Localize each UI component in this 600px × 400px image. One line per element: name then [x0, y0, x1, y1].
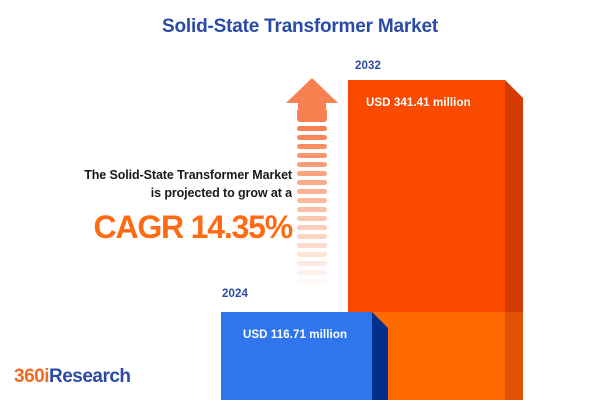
- up-arrow-shaft-segment: [297, 144, 327, 149]
- brand-logo-blue: Research: [49, 366, 131, 387]
- up-arrow-neck: [297, 110, 327, 122]
- page-title: Solid-State Transformer Market: [0, 16, 600, 38]
- up-arrow-shaft-segment: [297, 171, 327, 176]
- bar-label-value-2032: USD 341.41 million: [366, 97, 471, 109]
- statement-line-1: The Solid-State Transformer Market: [14, 166, 292, 184]
- bar-label-year-2024: 2024: [222, 288, 248, 300]
- up-arrow-shaft-segment: [297, 225, 327, 230]
- bar-2032-side-overlap-region: [505, 312, 523, 400]
- up-arrow-shaft-segment: [297, 261, 327, 266]
- cagr-value: CAGR 14.35%: [14, 209, 292, 245]
- up-arrow-shaft-segment: [297, 198, 327, 203]
- up-arrow-shaft-segment: [297, 279, 327, 284]
- up-arrow-shaft: [297, 126, 327, 294]
- statement-line-2: is projected to grow at a: [14, 184, 292, 202]
- up-arrow-shaft-segment: [297, 153, 327, 158]
- up-arrow-shaft-segment: [297, 189, 327, 194]
- brand-logo: 360iResearch: [14, 366, 131, 388]
- up-arrow-shaft-segment: [297, 252, 327, 257]
- brand-logo-orange: 360i: [14, 366, 49, 387]
- bar-label-year-2032: 2032: [355, 60, 381, 72]
- up-arrow-icon: [286, 78, 340, 294]
- up-arrow-shaft-segment: [297, 207, 327, 212]
- up-arrow-shaft-segment: [297, 270, 327, 275]
- up-arrow-shaft-segment: [297, 162, 327, 167]
- bar-2024: [221, 312, 372, 400]
- infographic-canvas: Solid-State Transformer Market The Solid…: [0, 0, 600, 400]
- up-arrow-shaft-segment: [297, 216, 327, 221]
- up-arrow-shaft-segment: [297, 288, 327, 293]
- up-arrow-shaft-segment: [297, 243, 327, 248]
- up-arrow-shaft-segment: [297, 234, 327, 239]
- up-arrow-head-icon: [286, 78, 338, 112]
- up-arrow-shaft-segment: [297, 180, 327, 185]
- cagr-statement: The Solid-State Transformer Market is pr…: [14, 166, 292, 245]
- up-arrow-shaft-segment: [297, 126, 327, 131]
- up-arrow-shaft-segment: [297, 135, 327, 140]
- bar-label-value-2024: USD 116.71 million: [243, 329, 347, 341]
